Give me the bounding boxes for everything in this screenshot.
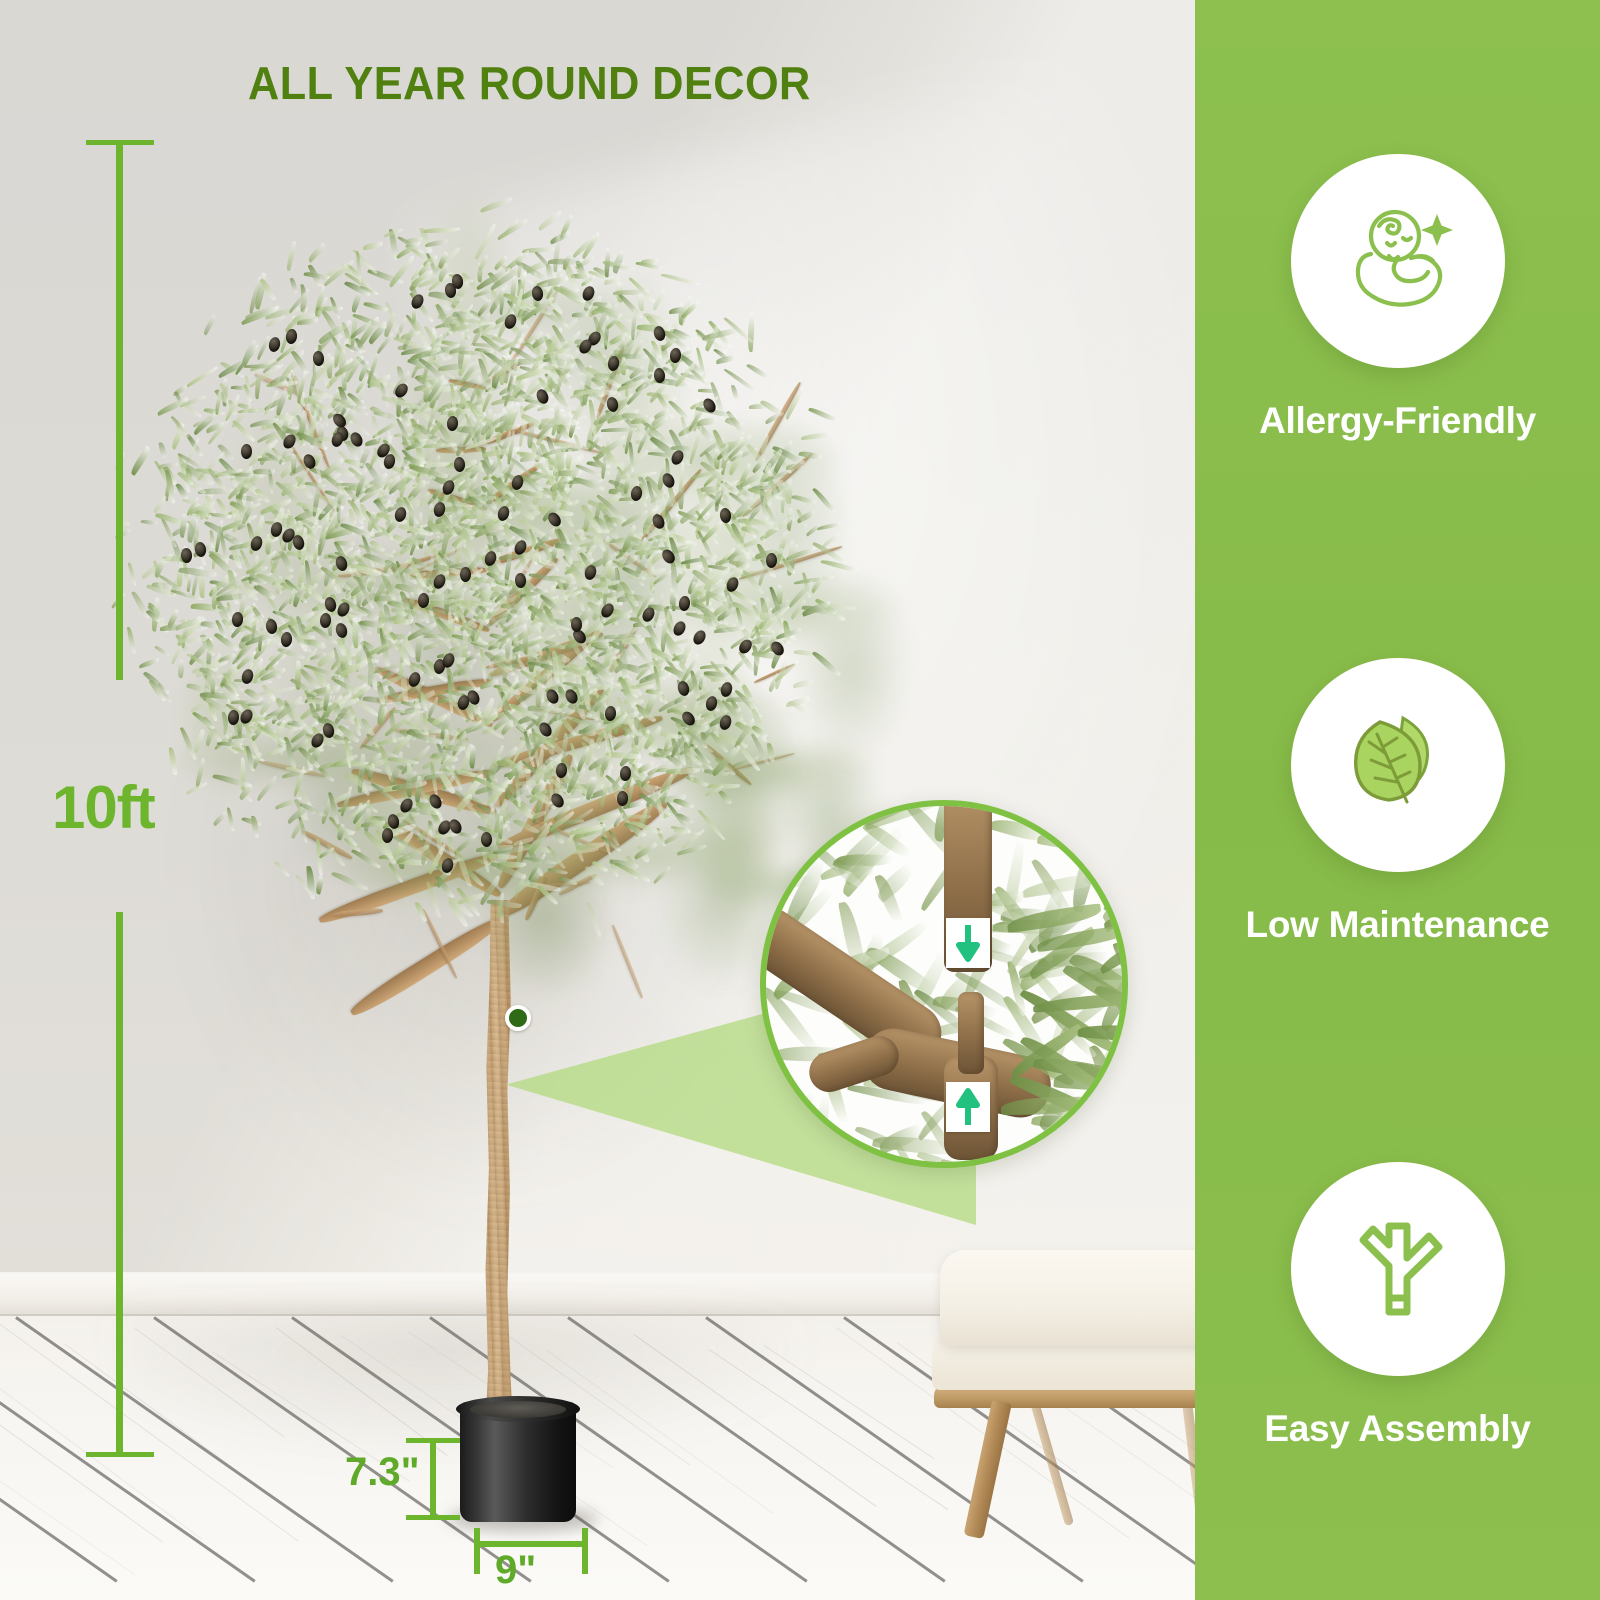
- canopy-leaf: [128, 563, 136, 587]
- feature-label: Easy Assembly: [1264, 1410, 1530, 1447]
- insert-down-arrow-tag: [946, 918, 990, 968]
- assembly-detail-magnifier: [760, 800, 1128, 1168]
- canopy-leaf: [127, 627, 136, 655]
- pot-soil: [470, 1401, 566, 1418]
- infographic-canvas: ALL YEAR ROUND DECOR 10ft 7.3" 9": [0, 0, 1600, 1600]
- insert-up-arrow-tag: [946, 1082, 990, 1132]
- pot-height-bottom-cap: [406, 1515, 460, 1520]
- detail-peg: [958, 992, 984, 1074]
- feature-icon-badge: [1291, 658, 1505, 872]
- arrow-down-icon: [956, 923, 980, 963]
- pot-width-right-cap: [582, 1528, 588, 1574]
- canopy-leaf: [186, 366, 219, 387]
- feature-easy-assembly[interactable]: Easy Assembly: [1195, 1162, 1600, 1447]
- height-dimension-line-lower: [116, 912, 123, 1455]
- feature-label: Low Maintenance: [1246, 906, 1550, 943]
- branch-assembly-icon: [1333, 1204, 1463, 1334]
- sparkle-icon: [1421, 214, 1453, 246]
- canopy-leaf: [141, 519, 159, 527]
- feature-label: Allergy-Friendly: [1259, 402, 1536, 439]
- feature-icon-badge: [1291, 1162, 1505, 1376]
- page-title: ALL YEAR ROUND DECOR: [248, 56, 811, 110]
- olive-fruit: [460, 567, 471, 582]
- feature-allergy-friendly[interactable]: Allergy-Friendly: [1195, 154, 1600, 439]
- canopy-leaf: [349, 291, 362, 313]
- canopy-leaf: [129, 445, 152, 475]
- height-dimension-line-upper: [116, 140, 123, 680]
- feature-low-maintenance[interactable]: Low Maintenance: [1195, 658, 1600, 943]
- canopy-leaf: [139, 658, 161, 669]
- olive-fruit: [181, 548, 193, 564]
- features-sidebar: Allergy-Friendly: [1195, 0, 1600, 1600]
- canopy-leaf: [159, 441, 167, 458]
- baby-sleeping-icon: [1333, 196, 1463, 326]
- artificial-olive-tree: [0, 0, 1195, 1600]
- pot-height-line: [430, 1438, 436, 1520]
- pot-width-line: [474, 1541, 588, 1547]
- height-dimension-bottom-cap: [86, 1452, 154, 1457]
- olive-fruit: [241, 444, 252, 459]
- olive-fruit: [619, 765, 631, 781]
- canopy-leaf: [290, 277, 298, 294]
- pot-width-left-cap: [474, 1528, 480, 1574]
- pot-height-label: 7.3": [345, 1452, 420, 1492]
- canopy-leaf: [522, 625, 528, 654]
- room-scene: [0, 0, 1195, 1600]
- canopy-leaf: [572, 311, 588, 317]
- height-dimension-label: 10ft: [52, 778, 155, 838]
- feature-icon-badge: [1291, 154, 1505, 368]
- canopy-leaf: [202, 314, 217, 335]
- canopy-leaf: [285, 240, 297, 270]
- leaf-icon: [1333, 700, 1463, 830]
- arrow-up-icon: [956, 1087, 980, 1127]
- pot-width-label: 9": [495, 1550, 536, 1590]
- canopy-leaf: [363, 241, 383, 250]
- olive-fruit: [285, 328, 298, 344]
- canopy-leaf: [309, 385, 316, 415]
- olive-fruit: [571, 617, 583, 632]
- detail-leaf: [1021, 871, 1109, 898]
- callout-anchor-dot: [505, 1005, 531, 1031]
- canopy-leaf: [306, 242, 327, 263]
